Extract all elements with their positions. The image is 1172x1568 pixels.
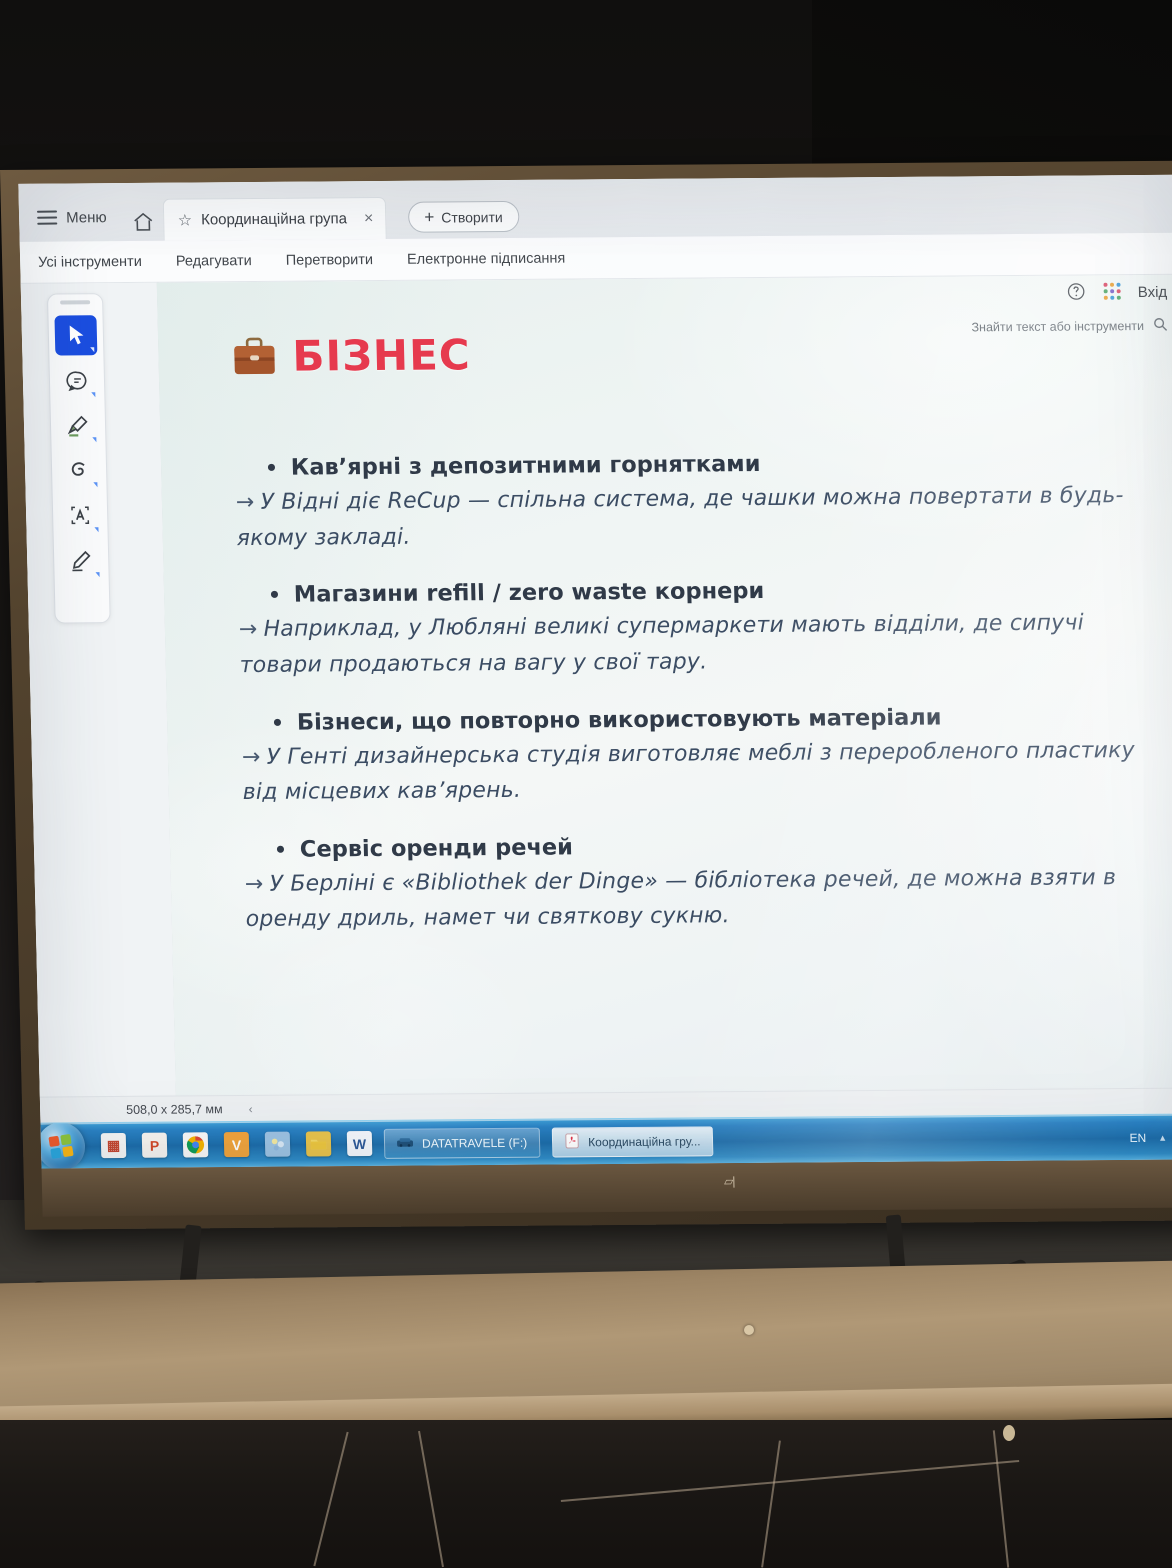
search-icon[interactable]	[1153, 317, 1168, 335]
tool-rail-container	[21, 283, 176, 1097]
taskbar-window-acrobat[interactable]: Координаційна гру...	[552, 1126, 714, 1157]
arrow-icon: →	[239, 617, 258, 642]
bullet-detail-text: У Генті дизайнерська студія виготовляє м…	[242, 738, 1135, 806]
bullet-heading: • Бізнеси, що повторно використовують ма…	[271, 702, 1152, 735]
bullet-detail-text: Наприклад, у Любляні великі супермаркети…	[239, 611, 1084, 678]
tv-brand-logo: ▱|	[724, 1174, 750, 1190]
cabinet-knob-lower	[1003, 1425, 1015, 1441]
bullet-heading-text: Магазини refill / zero waste корнери	[294, 578, 765, 608]
bullet-detail: →Наприклад, у Любляні великі супермаркет…	[238, 605, 1150, 683]
sidebar-item-highlight-tool[interactable]	[57, 405, 100, 445]
windows-start-orb-icon[interactable]	[40, 1122, 85, 1169]
chevron-down-icon	[93, 482, 97, 487]
folder-icon[interactable]	[306, 1131, 332, 1156]
taskbar-window-drive-label: DATATRAVELE (F:)	[422, 1135, 527, 1150]
powerpoint-icon[interactable]: P	[142, 1133, 168, 1158]
home-icon[interactable]	[131, 210, 156, 237]
cabinet-knob	[744, 1325, 754, 1335]
document-tab[interactable]: ☆ Координаційна група ×	[162, 197, 387, 241]
word-icon[interactable]: W	[347, 1131, 373, 1156]
taskbar-window-drive[interactable]: DATATRAVELE (F:)	[384, 1127, 541, 1158]
taskbar-window-acrobat-label: Координаційна гру...	[588, 1134, 701, 1149]
bullet-detail: →У Берліні є «Bibliothek der Dinge» — бі…	[244, 860, 1156, 938]
close-icon[interactable]: ×	[364, 210, 374, 228]
app-icon[interactable]	[265, 1132, 291, 1157]
menu-item-all-tools[interactable]: Усі інструменти	[38, 253, 142, 270]
bullet-heading-text: Кав’ярні з депозитними горнятками	[291, 451, 761, 481]
bullet-heading: • Сервіс оренди речей	[274, 830, 1155, 863]
page-title: БІЗНЕС	[292, 330, 471, 380]
bullet-detail-text: У Відні діє ReCup — спільна система, де …	[236, 483, 1123, 551]
menu-button[interactable]: Меню	[33, 197, 121, 238]
sidebar-item-fill-and-sign-tool[interactable]	[60, 540, 103, 580]
sidebar-item-select-tool[interactable]	[54, 315, 97, 355]
menu-item-convert[interactable]: Перетворити	[286, 252, 374, 269]
chevron-down-icon	[96, 572, 100, 577]
sidebar-item-text-recognize-tool[interactable]	[59, 495, 102, 535]
viber-icon[interactable]: V	[224, 1132, 250, 1157]
menu-item-edit[interactable]: Редагувати	[176, 253, 252, 270]
acrobat-icon	[565, 1133, 579, 1151]
arrow-icon: →	[245, 872, 264, 897]
chevron-down-icon	[91, 392, 95, 397]
language-indicator[interactable]: EN	[1129, 1130, 1146, 1144]
drive-icon	[397, 1136, 413, 1150]
chevron-down-icon	[92, 437, 96, 442]
tray-expand-icon[interactable]: ▲	[1158, 1132, 1167, 1142]
rail-drag-handle[interactable]	[60, 300, 90, 304]
document-tab-label: Координаційна група	[201, 210, 347, 228]
document-viewport[interactable]: Вхід Знайти текст або інструменти	[157, 275, 1172, 1096]
acrobat-window: Меню ☆ Координаційна група × + Створити	[18, 175, 1172, 1169]
tool-rail	[47, 293, 111, 623]
bullet-dot-icon: •	[271, 712, 284, 732]
bullet-heading-text: Бізнеси, що повторно використовують мате…	[297, 704, 942, 735]
utility-row: Вхід	[1066, 281, 1168, 305]
chrome-icon[interactable]	[183, 1132, 209, 1157]
search-input[interactable]: Знайти текст або інструменти	[971, 319, 1144, 334]
chevron-left-icon[interactable]: ‹	[248, 1101, 252, 1115]
sidebar-item-draw-tool[interactable]	[58, 450, 101, 490]
chevron-down-icon	[94, 527, 98, 532]
create-button-label: Створити	[441, 209, 503, 225]
quick-launch-bar: ▦ P V W	[101, 1131, 373, 1158]
create-button[interactable]: + Створити	[408, 201, 519, 233]
hamburger-icon	[37, 211, 57, 225]
television: Меню ☆ Координаційна група × + Створити	[0, 161, 1172, 1235]
bullet-detail: →У Генті дизайнерська студія виготовляє …	[241, 732, 1153, 810]
tv-screen: Меню ☆ Координаційна група × + Створити	[18, 175, 1172, 1169]
bullet-dot-icon: •	[268, 585, 281, 605]
titlebar: Меню ☆ Координаційна група × + Створити	[18, 175, 1172, 242]
slide-content: БІЗНЕС • Кав’ярні з депозитними горнятка…	[232, 325, 1157, 964]
system-tray: EN ▲	[1129, 1127, 1172, 1147]
plus-icon: +	[424, 207, 434, 227]
grid-app-icon[interactable]: ▦	[101, 1133, 127, 1158]
arrow-icon: →	[236, 490, 255, 515]
bullet-heading-text: Сервіс оренди речей	[300, 834, 574, 862]
windows-flag-icon	[48, 1133, 73, 1158]
bullet-detail-text: У Берліні є «Bibliothek der Dinge» — біб…	[245, 865, 1116, 932]
bullet-detail: →У Відні діє ReCup — спільна система, де…	[235, 478, 1147, 556]
work-area: Вхід Знайти текст або інструменти	[21, 275, 1172, 1097]
search-row[interactable]: Знайти текст або інструменти	[971, 317, 1168, 337]
arrow-icon: →	[242, 744, 261, 769]
page-dimensions: 508,0 x 285,7 мм	[126, 1102, 223, 1117]
apps-grid-icon[interactable]	[1102, 281, 1123, 304]
menu-item-e-sign[interactable]: Електронне підписання	[407, 250, 566, 267]
sidebar-item-comment-tool[interactable]	[56, 360, 99, 400]
bullet-heading: • Кав’ярні з депозитними горнятками	[265, 448, 1146, 481]
signin-button[interactable]: Вхід	[1138, 284, 1168, 301]
briefcase-icon	[232, 336, 277, 376]
bullet-dot-icon: •	[265, 458, 278, 478]
under-cabinet-shadow	[0, 1420, 1172, 1568]
star-icon[interactable]: ☆	[178, 210, 193, 230]
bullet-dot-icon: •	[274, 839, 287, 859]
bullet-heading: • Магазини refill / zero waste корнери	[268, 575, 1149, 608]
tv-chin	[42, 1159, 1172, 1216]
help-icon[interactable]	[1066, 281, 1087, 304]
chevron-down-icon	[90, 347, 94, 352]
menu-button-label: Меню	[66, 209, 107, 226]
